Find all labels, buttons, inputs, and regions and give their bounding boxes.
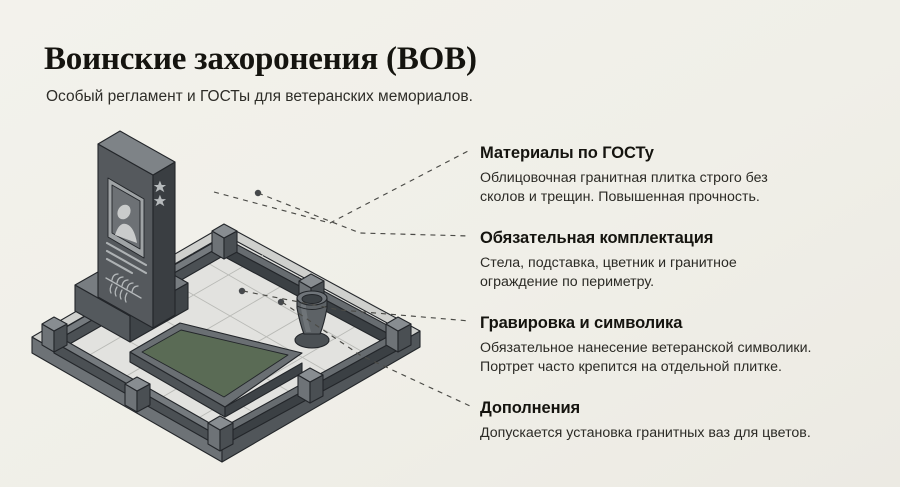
callout-body-engraving: Обязательное нанесение ветеранской симво… (480, 339, 880, 376)
callout-complectation: Обязательная комплектация Стела, подстав… (480, 228, 880, 291)
callout-title-engraving: Гравировка и символика (480, 313, 880, 333)
fence-mid-post-front-right (298, 368, 323, 403)
memorial-illustration: .ol { stroke:#23262a; stroke-width:1.1; … (20, 112, 460, 487)
fence-corner-post-right (386, 317, 411, 352)
granite-stele (98, 131, 175, 328)
header: Воинские захоронения (ВОВ) Особый реглам… (44, 40, 664, 107)
callout-materials: Материалы по ГОСТу Облицовочная гранитна… (480, 143, 880, 206)
callout-title-additions: Дополнения (480, 398, 880, 418)
fence-mid-post-front-left (125, 377, 150, 412)
fence-corner-post-left (42, 317, 67, 352)
callout-body-materials: Облицовочная гранитная плитка строго без… (480, 169, 880, 206)
granite-vase (295, 291, 329, 348)
callout-body-complectation: Стела, подставка, цветник и гранитное ог… (480, 254, 880, 291)
infographic-page: Воинские захоронения (ВОВ) Особый реглам… (0, 0, 900, 487)
page-title: Воинские захоронения (ВОВ) (44, 40, 664, 78)
callout-title-complectation: Обязательная комплектация (480, 228, 880, 248)
callout-engraving: Гравировка и символика Обязательное нане… (480, 313, 880, 376)
callout-body-additions: Допускается установка гранитных ваз для … (480, 424, 880, 443)
fence-corner-post-front (208, 416, 233, 451)
callout-title-materials: Материалы по ГОСТу (480, 143, 880, 163)
callout-additions: Дополнения Допускается установка гранитн… (480, 398, 880, 443)
page-subtitle: Особый регламент и ГОСТы для ветеранских… (46, 87, 664, 107)
fence-corner-post-back (212, 224, 237, 259)
